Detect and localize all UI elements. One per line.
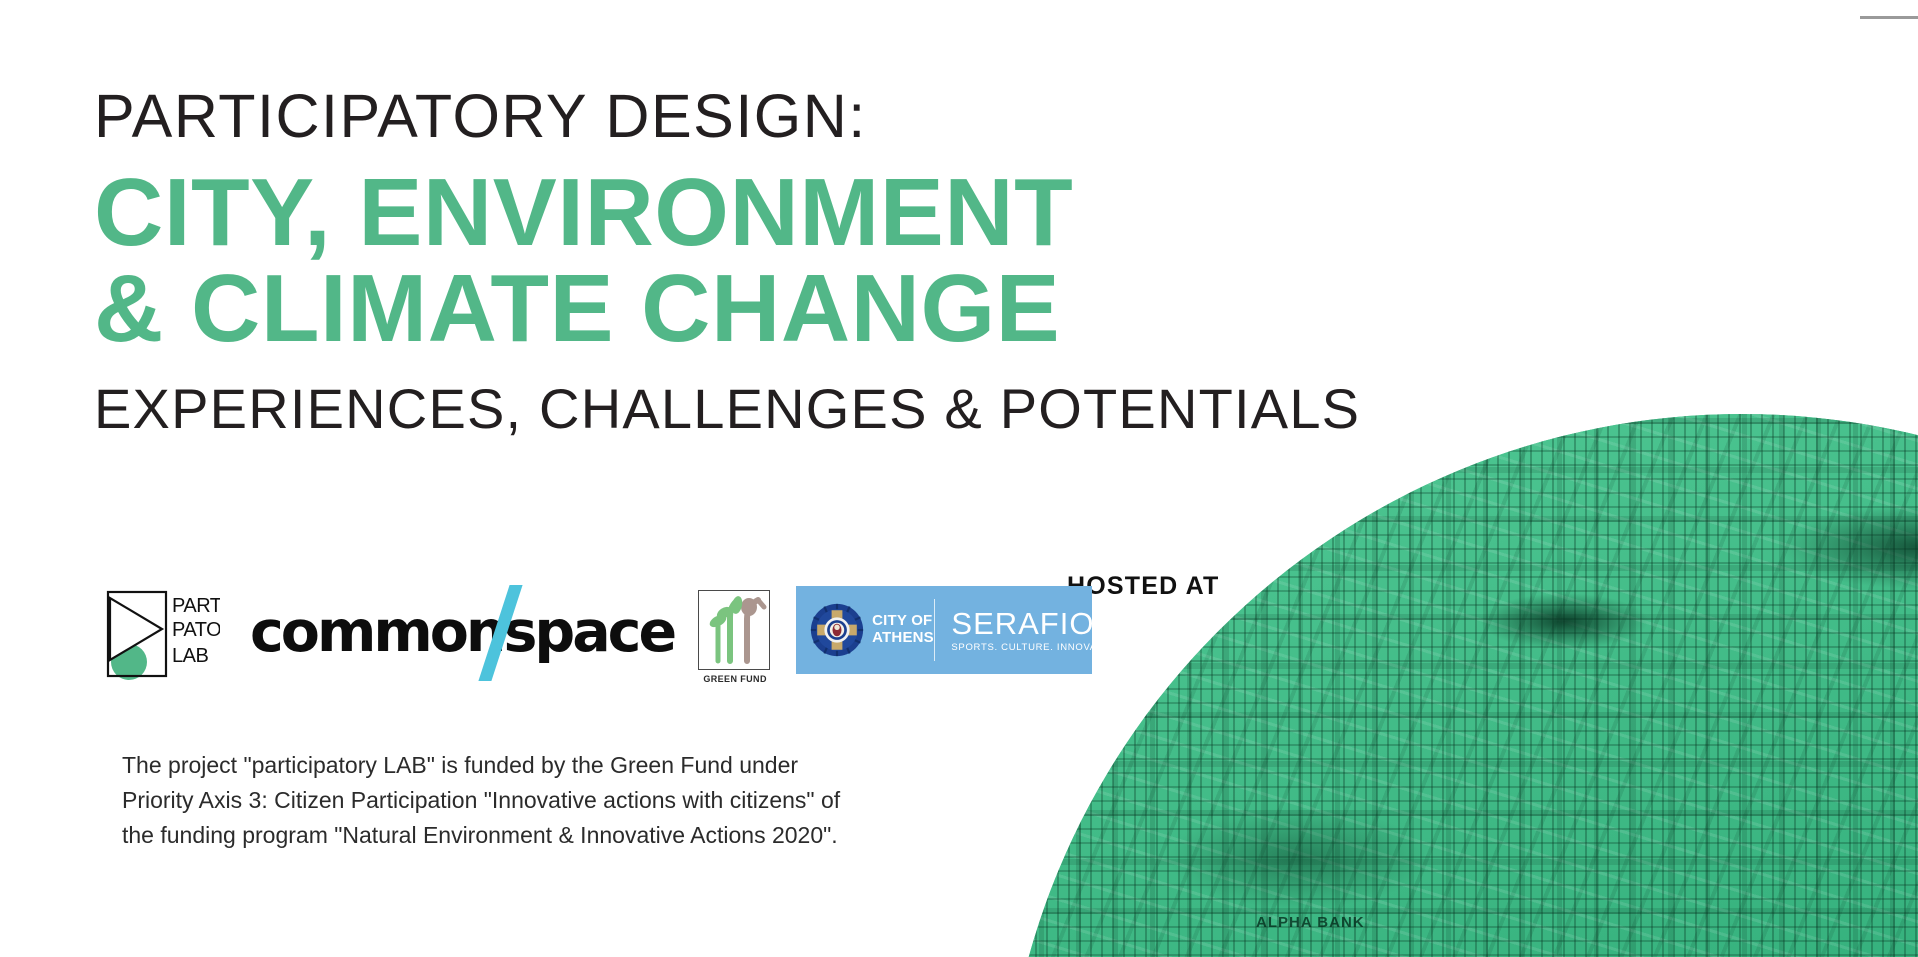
alpha-bank-building-sign: ALPHA BANK — [1256, 914, 1365, 931]
green-fund-logo: GREEN FUND — [698, 590, 772, 684]
logo-strip: PARTICI PATORY LAB common space — [96, 584, 1092, 684]
cityscape-photo: ALPHA BANK — [1012, 396, 1918, 957]
participatory-lab-mark: PARTICI PATORY LAB — [96, 584, 220, 684]
commonspace-word-common: common — [250, 604, 503, 661]
green-fund-plant-icon — [700, 591, 769, 668]
top-right-artifact-line — [1860, 16, 1918, 19]
title-line-3: & CLIMATE CHANGE — [94, 258, 1394, 360]
serafio-tagline: SPORTS. CULTURE. INNOVATION — [951, 642, 1121, 653]
green-fund-caption: GREEN FUND — [698, 674, 772, 684]
participatory-lab-text-line-3: LAB — [172, 645, 208, 667]
city-of-athens-logo: CITY OF ATHENS — [796, 603, 934, 657]
participatory-lab-text-line-2: PATORY — [172, 619, 220, 641]
city-of-athens-seal-icon — [810, 603, 864, 657]
cityscape-photo-image — [1012, 414, 1918, 957]
green-fund-box — [698, 590, 770, 670]
funding-note-line-2: Priority Axis 3: Citizen Participation "… — [122, 783, 942, 818]
city-of-athens-line-1: CITY OF — [872, 613, 934, 630]
title-subtitle: EXPERIENCES, CHALLENGES & POTENTIALS — [94, 378, 1394, 440]
funding-note-line-3: the funding program "Natural Environment… — [122, 818, 942, 853]
serafio-logo: SERAFIO SPORTS. CULTURE. INNOVATION — [935, 608, 1121, 653]
event-banner: ALPHA BANK PARTICIPATORY DESIGN: CITY, E… — [0, 0, 1918, 957]
green-fund-bud — [741, 598, 757, 616]
participatory-lab-text-line-1: PARTICI — [172, 595, 220, 617]
commonspace-word-space: space — [503, 604, 674, 661]
city-of-athens-line-2: ATHENS — [872, 630, 934, 647]
cityscape-photo-disc: ALPHA BANK — [1012, 414, 1918, 957]
title-line-1: PARTICIPATORY DESIGN: — [94, 84, 1394, 148]
funding-note: The project "participatory LAB" is funde… — [122, 748, 942, 853]
serafio-wordmark: SERAFIO — [951, 608, 1121, 639]
funding-note-line-1: The project "participatory LAB" is funde… — [122, 748, 942, 783]
title-line-2: CITY, ENVIRONMENT — [94, 162, 1394, 264]
commonspace-logo: common space — [250, 600, 674, 664]
city-of-athens-wordmark: CITY OF ATHENS — [872, 613, 934, 647]
page-title: PARTICIPATORY DESIGN: CITY, ENVIRONMENT … — [94, 84, 1394, 439]
city-of-athens-serafio-panel: CITY OF ATHENS SERAFIO SPORTS. CULTURE. … — [796, 586, 1092, 674]
participatory-lab-logo: PARTICI PATORY LAB — [96, 584, 220, 684]
green-fund-branch-twig — [758, 600, 764, 607]
